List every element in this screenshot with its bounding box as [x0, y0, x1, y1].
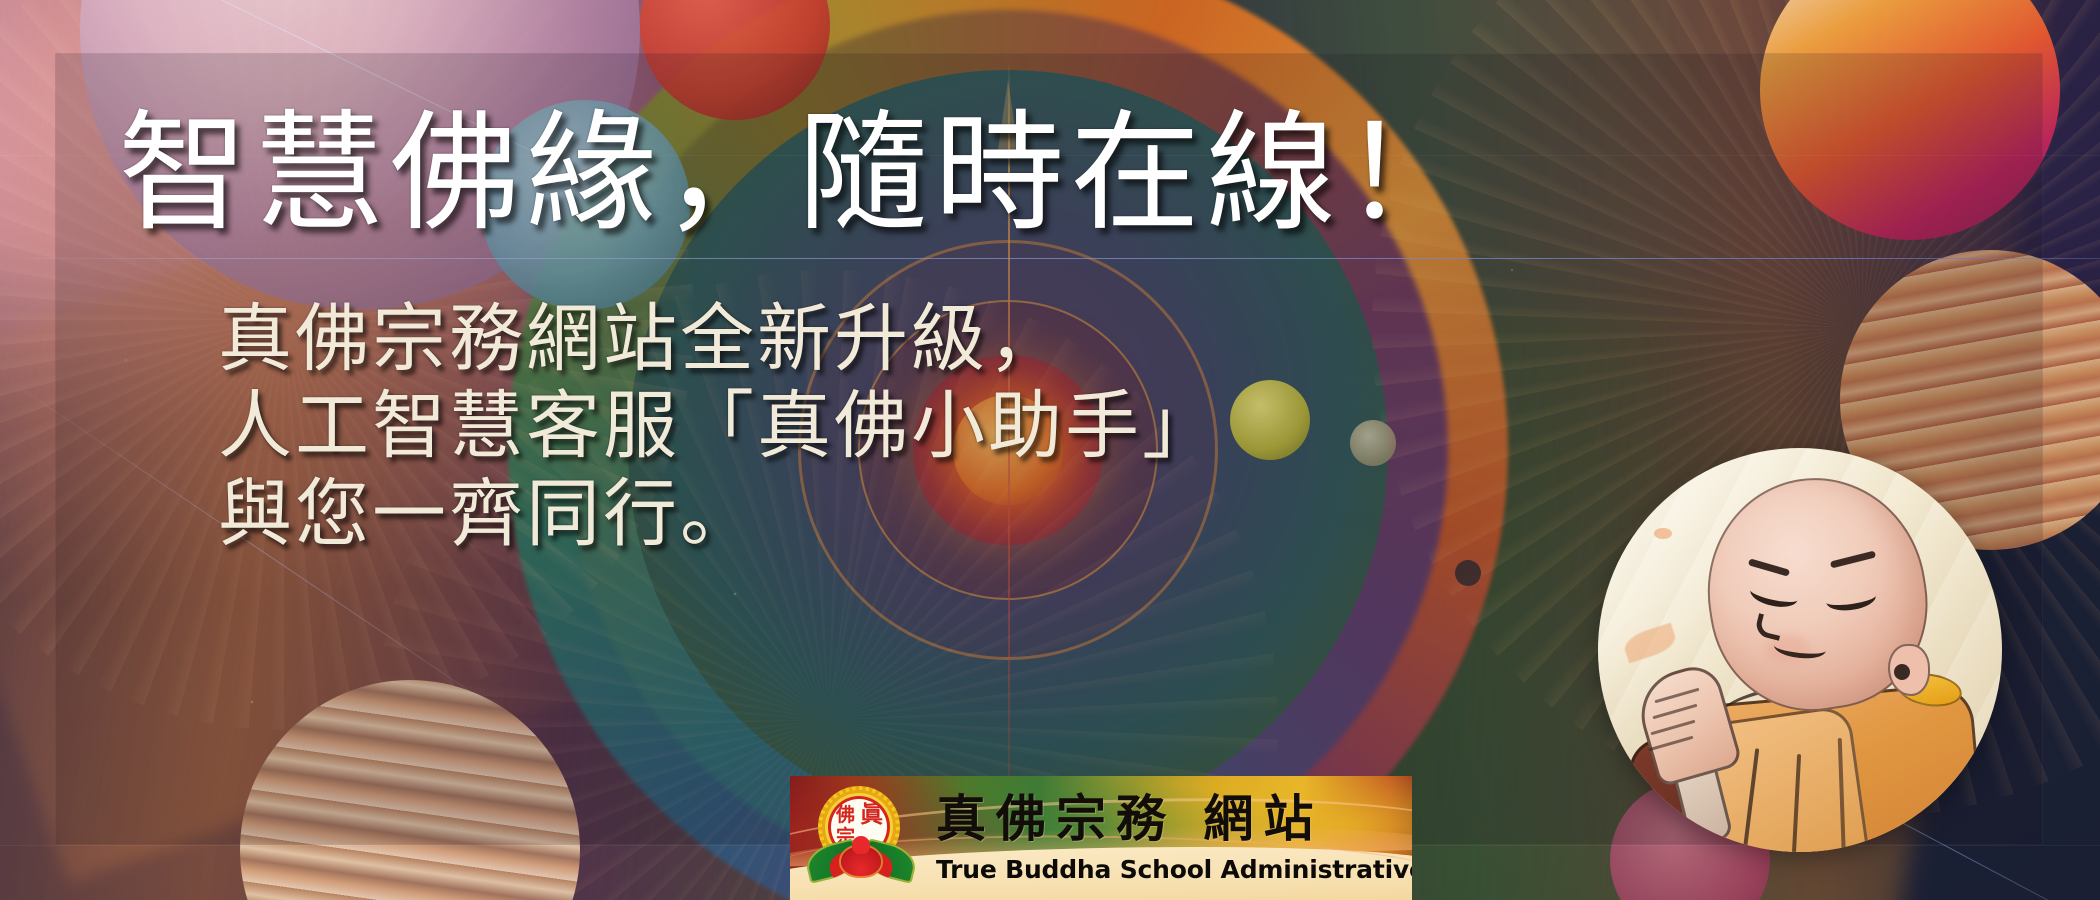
emblem-char-top-right: 眞: [860, 804, 883, 827]
subtitle-group: 真佛宗務網站全新升級， 人工智慧客服「真佛小助手」 與您一齊同行。: [218, 296, 1219, 558]
avatar-orange-dot: [1654, 528, 1672, 539]
monk-avatar: [1598, 448, 2002, 852]
emblem-lotus-top-petal: [852, 836, 870, 854]
emblem-char-top-left: 佛: [836, 806, 855, 825]
site-logo-banner[interactable]: 佛 眞 宗 真佛宗務 網站 True Buddha School Adminis…: [790, 776, 1412, 900]
subtitle-line-2: 人工智慧客服「真佛小助手」: [218, 383, 1219, 470]
subtitle-line-3: 與您一齊同行。: [218, 471, 1219, 558]
logo-calligraphy-title: 真佛宗務 網站: [936, 788, 1396, 852]
logo-english-title: True Buddha School Administrative Networ…: [936, 855, 1406, 884]
monk-earlobe: [1894, 664, 1910, 680]
subtitle-line-1: 真佛宗務網站全新升級，: [218, 296, 1219, 383]
true-buddha-emblem-icon: 佛 眞 宗: [808, 784, 914, 892]
headline: 智慧佛緣，隨時在線！: [118, 108, 1478, 238]
banner-stage: 智慧佛緣，隨時在線！ 真佛宗務網站全新升級， 人工智慧客服「真佛小助手」 與您一…: [0, 0, 2100, 900]
